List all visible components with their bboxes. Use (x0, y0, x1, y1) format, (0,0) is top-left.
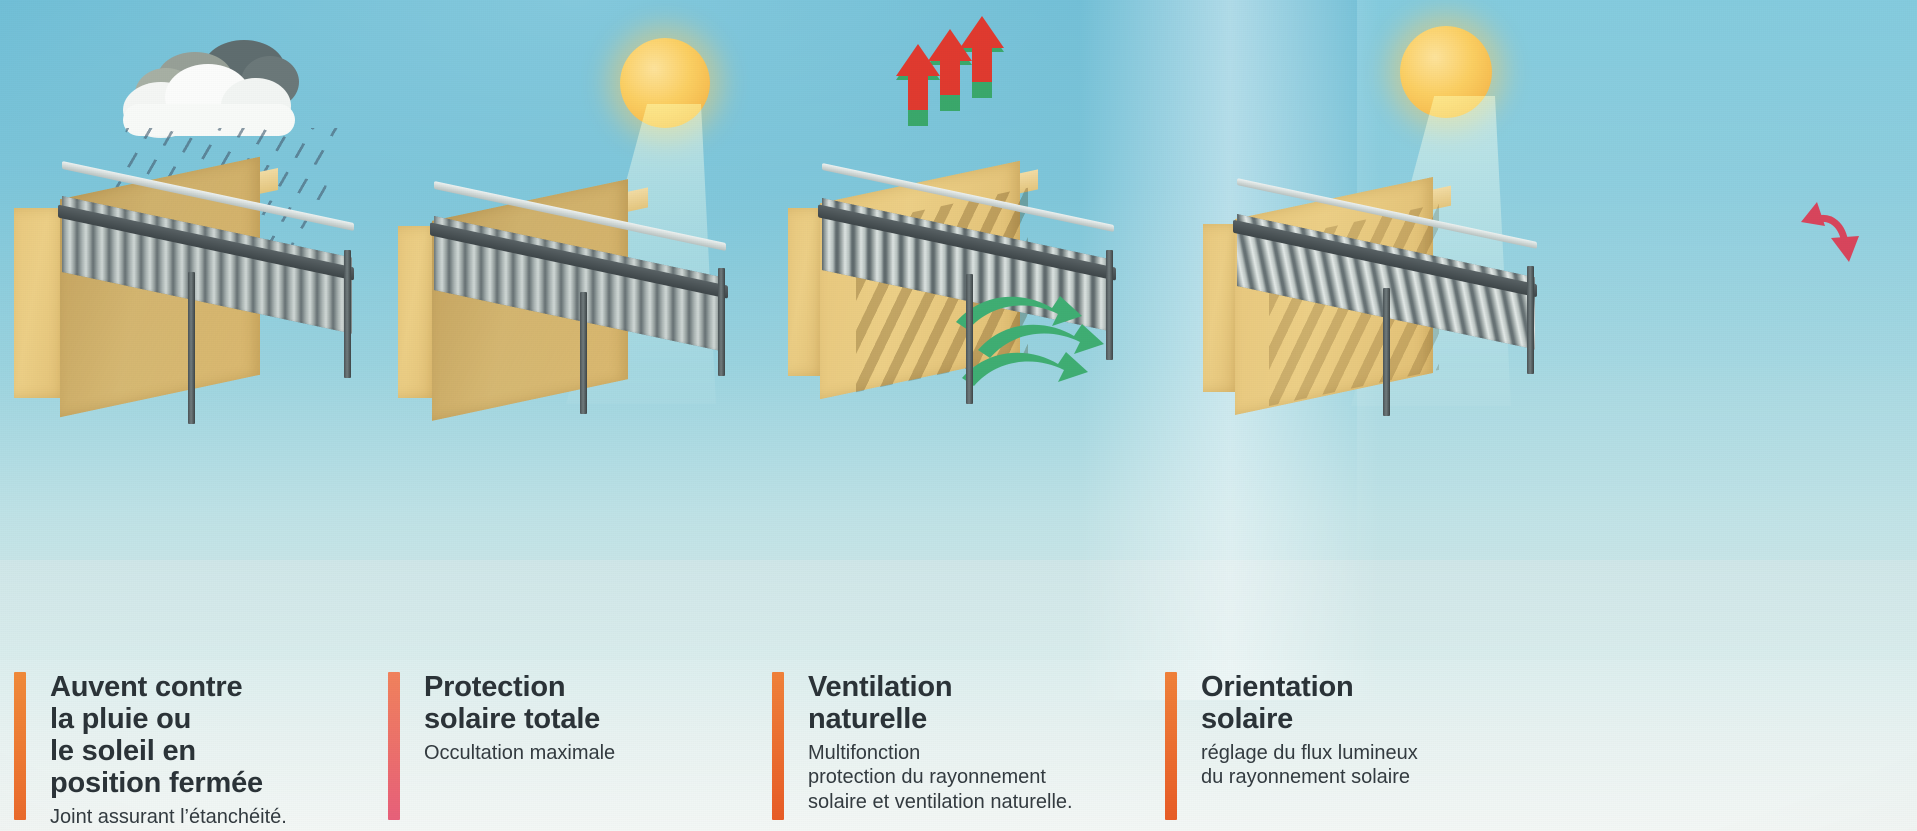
caption-title: Ventilation naturelle (808, 672, 1073, 736)
pergola-post-front (1383, 288, 1390, 416)
pergola-post-front (188, 272, 195, 424)
pergola-post-right (718, 268, 725, 376)
caption-subtitle-line: protection du rayonnement (808, 765, 1073, 789)
caption-rain: Auvent contre la pluie ou le soleil en p… (14, 672, 374, 820)
caption-subtitle: Multifonction protection du rayonnement … (808, 741, 1073, 814)
caption-text-block: Auvent contre la pluie ou le soleil en p… (50, 672, 287, 829)
caption-text-block: Ventilation naturelle Multifonction prot… (808, 672, 1073, 814)
caption-shade: Protection solaire totale Occultation ma… (388, 672, 758, 820)
pergola-post-right (344, 250, 351, 378)
pergola-post-front (580, 292, 587, 414)
pergola-post-front (966, 274, 973, 404)
caption-text-block: Protection solaire totale Occultation ma… (424, 672, 615, 765)
panel-shade-illustration (380, 0, 770, 660)
caption-subtitle: Joint assurant l’étanchéité. (50, 805, 287, 829)
caption-accent-bar (772, 672, 784, 820)
caption-title-line: naturelle (808, 704, 1073, 736)
red-up-arrow-icon (890, 40, 970, 130)
caption-title: Auvent contre la pluie ou le soleil en p… (50, 672, 287, 800)
caption-subtitle-line: Multifonction (808, 741, 1073, 765)
caption-title-line: solaire totale (424, 704, 615, 736)
caption-subtitle-line: réglage du flux lumineux (1201, 741, 1418, 765)
caption-text-block: Orientation solaire réglage du flux lumi… (1201, 672, 1418, 790)
caption-accent-bar (14, 672, 26, 820)
red-rotation-arrow-icon (1787, 176, 1879, 276)
caption-title-line: Ventilation (808, 672, 1073, 704)
caption-title-line: la pluie ou (50, 704, 287, 736)
caption-ventilation: Ventilation naturelle Multifonction prot… (772, 672, 1164, 820)
caption-title-line: solaire (1201, 704, 1418, 736)
caption-title: Protection solaire totale (424, 672, 615, 736)
panel-orientation: Orientation solaire réglage du flux lumi… (1165, 0, 1917, 831)
panel-shade: Protection solaire totale Occultation ma… (380, 0, 770, 831)
pergola-post-right (1106, 250, 1113, 360)
caption-title-line: Auvent contre (50, 672, 287, 704)
panel-rain: Auvent contre la pluie ou le soleil en p… (0, 0, 380, 831)
caption-title-line: Orientation (1201, 672, 1418, 704)
caption-accent-bar (1165, 672, 1177, 820)
caption-subtitle-line: solaire et ventilation naturelle. (808, 790, 1073, 814)
caption-title-line: le soleil en (50, 736, 287, 768)
caption-title-line: position fermée (50, 768, 287, 800)
figure-canvas: Auvent contre la pluie ou le soleil en p… (0, 0, 1917, 831)
caption-subtitle: Occultation maximale (424, 741, 615, 765)
panel-ventilation-illustration (770, 0, 1165, 660)
pergola-post-right (1527, 266, 1534, 374)
caption-subtitle-line: du rayonnement solaire (1201, 765, 1418, 789)
caption-subtitle-line: Occultation maximale (424, 741, 615, 765)
caption-title: Orientation solaire (1201, 672, 1418, 736)
caption-title-line: Protection (424, 672, 615, 704)
panel-rain-illustration (0, 0, 380, 660)
caption-subtitle-line: Joint assurant l’étanchéité. (50, 805, 287, 829)
caption-accent-bar (388, 672, 400, 820)
panel-ventilation: Ventilation naturelle Multifonction prot… (770, 0, 1165, 831)
panel-orientation-illustration (1165, 0, 1917, 660)
caption-orientation: Orientation solaire réglage du flux lumi… (1165, 672, 1665, 820)
caption-subtitle: réglage du flux lumineux du rayonnement … (1201, 741, 1418, 790)
